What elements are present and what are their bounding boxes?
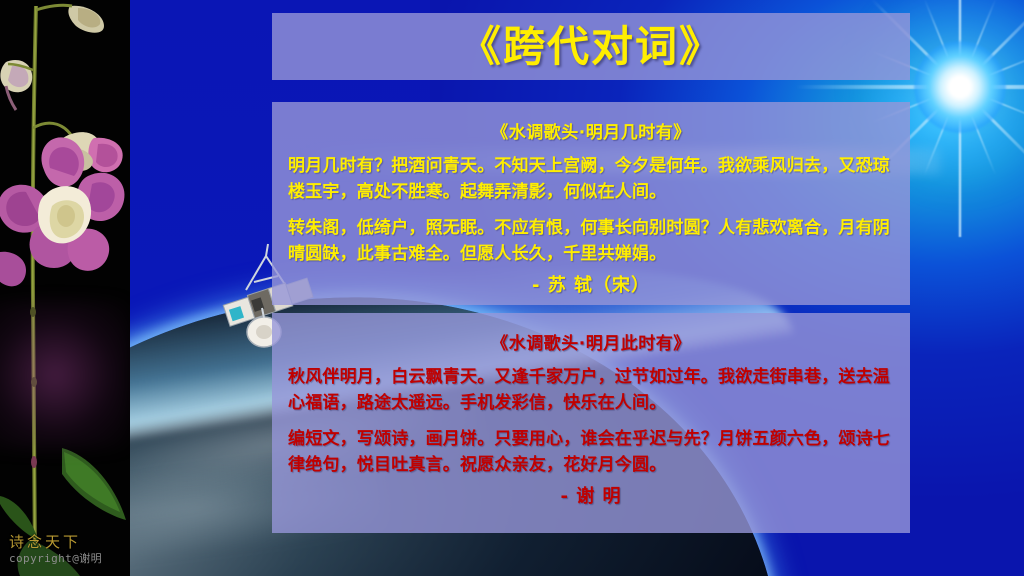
poem-stanza: 转朱阁，低绮户，照无眠。不应有恨，何事长向别时圆？人有悲欢离合，月有阴晴圆缺，此… (288, 215, 894, 267)
poem-panel-response: 《水调歌头·明月此时有》 秋风伴明月，白云飘青天。又逢千家万户，过节如过年。我欲… (272, 313, 910, 533)
poem-stanza: 编短文，写颂诗，画月饼。只要用心，谁会在乎迟与先？月饼五颜六色，颂诗七律绝句，悦… (288, 426, 894, 478)
orchid-flower-image (0, 0, 130, 576)
poem-author: - 谢 明 (288, 482, 894, 508)
star-core (914, 41, 1006, 133)
poem-title: 《水调歌头·明月几时有》 (288, 118, 894, 143)
watermark: 诗念天下 copyright@谢明 (9, 534, 102, 566)
watermark-copyright: copyright@谢明 (9, 553, 102, 566)
page-title: 《跨代对词》 (272, 13, 910, 80)
poem-panel-original: 《水调歌头·明月几时有》 明月几时有？把酒问青天。不知天上宫阙，今夕是何年。我欲… (272, 102, 910, 305)
title-panel: 《跨代对词》 (272, 13, 910, 80)
orchid-sidebar: 诗念天下 copyright@谢明 (0, 0, 130, 576)
poem-stanza: 明月几时有？把酒问青天。不知天上宫阙，今夕是何年。我欲乘风归去，又恐琼楼玉宇，高… (288, 153, 894, 205)
poem-author: - 苏 轼（宋） (288, 271, 894, 297)
watermark-title: 诗念天下 (9, 534, 102, 551)
poem-title: 《水调歌头·明月此时有》 (288, 329, 894, 354)
orchid-glow (0, 300, 130, 450)
poem-stanza: 秋风伴明月，白云飘青天。又逢千家万户，过节如过年。我欲走街串巷，送去温心福语，路… (288, 364, 894, 416)
presentation-slide: 诗念天下 copyright@谢明 《跨代对词》 《水调歌头·明月几时有》 明月… (0, 0, 1024, 576)
